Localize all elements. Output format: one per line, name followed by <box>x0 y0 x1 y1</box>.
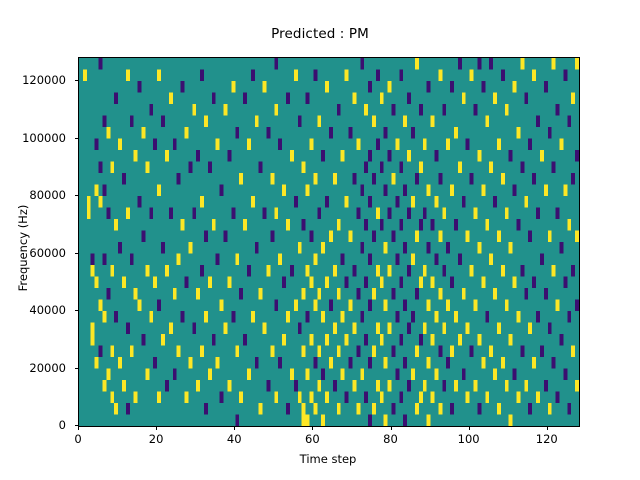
matplotlib-figure: Predicted : PM Time step Frequency (Hz) … <box>0 0 640 480</box>
heatmap-axes[interactable] <box>78 57 580 427</box>
x-tick-mark <box>547 426 548 430</box>
y-tick-label: 100000 <box>22 131 66 145</box>
x-tick-mark <box>469 426 470 430</box>
chart-title: Predicted : PM <box>0 26 640 42</box>
y-axis-label: Frequency (Hz) <box>16 148 30 348</box>
x-tick-label: 120 <box>536 432 558 446</box>
x-tick-mark <box>391 426 392 430</box>
x-axis-label: Time step <box>78 452 578 466</box>
y-tick-label: 120000 <box>22 73 66 87</box>
y-tick-label: 0 <box>59 418 66 432</box>
x-tick-label: 40 <box>227 432 242 446</box>
x-tick-label: 60 <box>305 432 320 446</box>
y-tick-label: 40000 <box>29 303 66 317</box>
heatmap-image[interactable] <box>79 58 579 426</box>
x-tick-mark <box>312 426 313 430</box>
x-tick-mark <box>78 426 79 430</box>
x-tick-mark <box>234 426 235 430</box>
y-tick-mark <box>75 253 79 254</box>
x-tick-label: 0 <box>74 432 81 446</box>
x-tick-label: 100 <box>458 432 480 446</box>
y-tick-label: 20000 <box>29 361 66 375</box>
y-tick-label: 60000 <box>29 246 66 260</box>
y-tick-mark <box>75 138 79 139</box>
y-tick-mark <box>75 195 79 196</box>
y-tick-label: 80000 <box>29 188 66 202</box>
y-tick-mark <box>75 310 79 311</box>
x-tick-label: 20 <box>149 432 164 446</box>
y-tick-mark <box>75 368 79 369</box>
x-tick-label: 80 <box>383 432 398 446</box>
y-tick-mark <box>75 80 79 81</box>
x-tick-mark <box>156 426 157 430</box>
